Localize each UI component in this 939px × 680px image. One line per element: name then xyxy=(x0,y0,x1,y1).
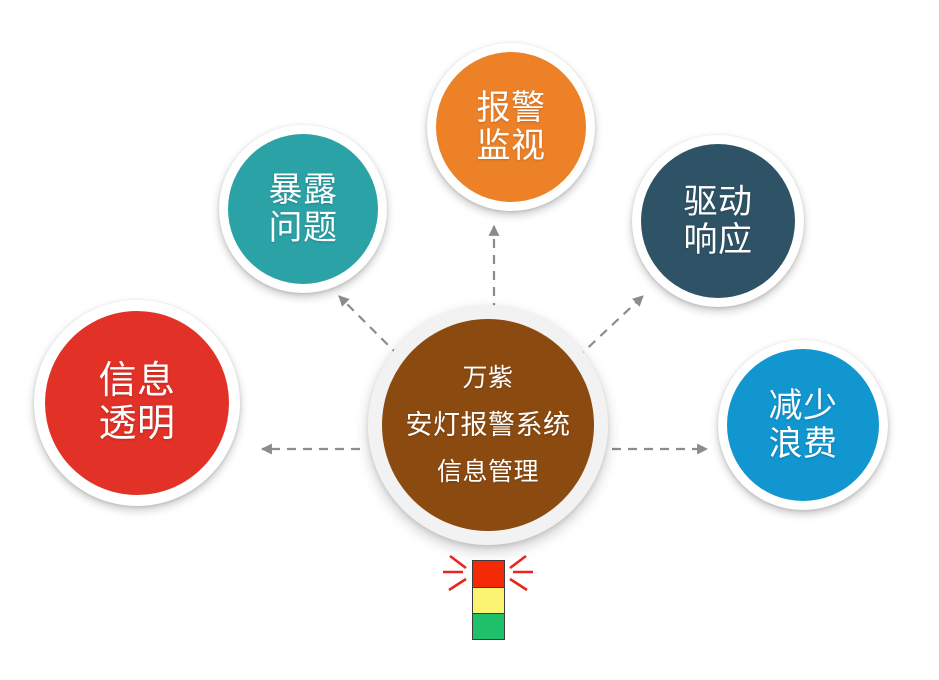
node-alarm-monitoring-disc: 报警 监视 xyxy=(436,52,586,202)
node-reduce-waste-disc: 减少 浪费 xyxy=(727,349,879,501)
center-node-line-3: 信息管理 xyxy=(437,458,539,486)
node-drive-response-line-2: 响应 xyxy=(684,221,753,259)
node-information-transparency-disc: 信息 透明 xyxy=(45,311,229,495)
connector-up-left xyxy=(339,296,399,356)
node-alarm-monitoring-line-1: 报警 xyxy=(477,89,546,127)
node-alarm-monitoring-line-2: 监视 xyxy=(477,127,546,165)
center-node-disc: 万紫 安灯报警系统 信息管理 xyxy=(382,319,594,531)
center-node-line-1: 万紫 xyxy=(462,364,513,392)
node-reduce-waste-line-1: 减少 xyxy=(769,387,838,425)
lamp-yellow xyxy=(473,587,504,613)
node-alarm-monitoring[interactable]: 报警 监视 xyxy=(427,43,595,211)
connector-up-right xyxy=(577,296,643,358)
andon-light-tower xyxy=(472,560,505,640)
lamp-red xyxy=(473,561,504,587)
node-expose-problems-line-1: 暴露 xyxy=(269,171,338,209)
center-node[interactable]: 万紫 安灯报警系统 信息管理 xyxy=(368,305,608,545)
andon-light-icon xyxy=(440,548,536,648)
node-expose-problems-line-2: 问题 xyxy=(269,209,338,247)
center-node-line-2: 安灯报警系统 xyxy=(406,410,571,440)
node-information-transparency-line-2: 透明 xyxy=(98,403,175,446)
node-drive-response-disc: 驱动 响应 xyxy=(641,144,795,298)
node-expose-problems[interactable]: 暴露 问题 xyxy=(219,125,387,293)
node-information-transparency[interactable]: 信息 透明 xyxy=(34,300,240,506)
node-drive-response-line-1: 驱动 xyxy=(684,183,753,221)
node-reduce-waste-line-2: 浪费 xyxy=(769,425,838,463)
node-drive-response[interactable]: 驱动 响应 xyxy=(632,135,804,307)
node-information-transparency-line-1: 信息 xyxy=(98,360,175,403)
diagram-canvas: 万紫 安灯报警系统 信息管理 报警 监视 暴露 问题 驱动 响应 信息 透明 减… xyxy=(0,0,939,680)
node-reduce-waste[interactable]: 减少 浪费 xyxy=(718,340,888,510)
node-expose-problems-disc: 暴露 问题 xyxy=(228,134,378,284)
lamp-green xyxy=(473,613,504,639)
